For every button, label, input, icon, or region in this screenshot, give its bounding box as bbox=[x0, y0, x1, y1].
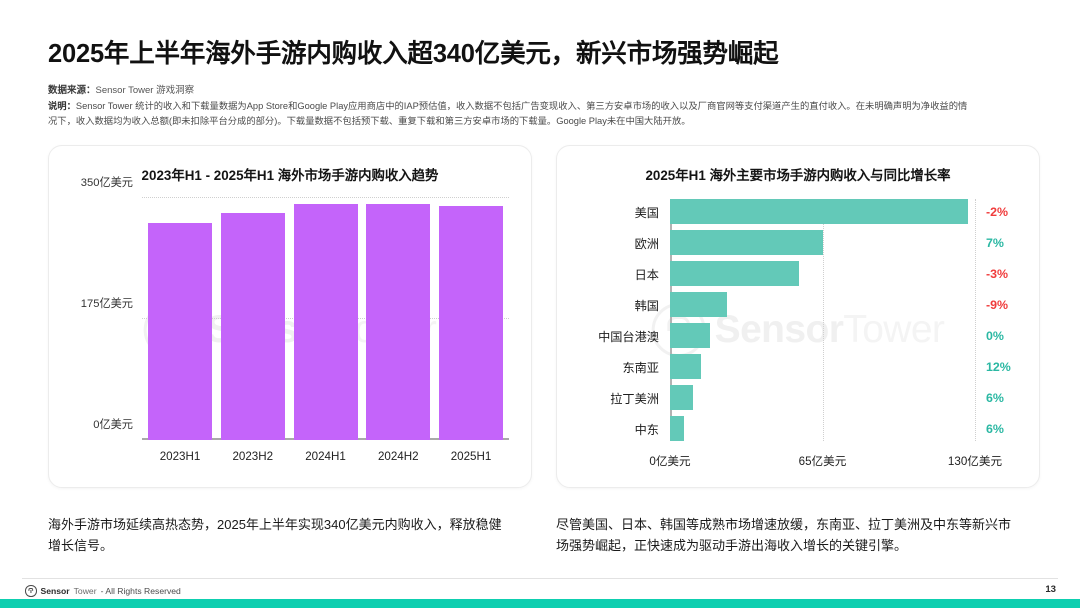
trend-bar[interactable] bbox=[294, 204, 358, 440]
trend-y-tick-label: 0亿美元 bbox=[93, 416, 133, 432]
trend-x-tick-label: 2024H2 bbox=[378, 450, 419, 463]
caption-right: 尽管美国、日本、韩国等成熟市场增速放缓，东南亚、拉丁美洲及中东等新兴市场强势崛起… bbox=[556, 514, 1021, 556]
note-label: 说明： bbox=[48, 101, 76, 111]
trend-bar-group[interactable]: 2023H1 bbox=[148, 198, 212, 440]
footer-rights: - All Rights Reserved bbox=[101, 586, 181, 596]
page-number: 13 bbox=[1045, 584, 1056, 595]
markets-bar[interactable] bbox=[670, 385, 693, 410]
markets-bar[interactable] bbox=[670, 323, 710, 348]
trend-x-tick-label: 2025H1 bbox=[451, 450, 492, 463]
trend-y-tick-label: 350亿美元 bbox=[81, 174, 133, 190]
trend-bars: 2023H12023H22024H12024H22025H1 bbox=[142, 198, 509, 440]
trend-bar[interactable] bbox=[366, 204, 430, 440]
trend-chart-card: 2023年H1 - 2025年H1 海外市场手游内购收入趋势 SensorTow… bbox=[48, 145, 532, 488]
footer-brand-light: Tower bbox=[74, 586, 97, 596]
markets-plot-area: 0亿美元65亿美元130亿美元美国-2%欧洲7%日本-3%韩国-9%中国台港澳0… bbox=[670, 199, 975, 441]
markets-category-label: 东南亚 bbox=[622, 358, 659, 376]
trend-y-tick-label: 175亿美元 bbox=[81, 295, 133, 311]
markets-category-label: 欧洲 bbox=[635, 234, 659, 252]
markets-growth-label: 6% bbox=[986, 422, 1004, 436]
sensor-tower-logo-icon bbox=[25, 585, 37, 597]
trend-x-tick-label: 2024H1 bbox=[305, 450, 346, 463]
markets-bar-row[interactable]: 韩国-9% bbox=[670, 292, 975, 317]
trend-bar[interactable] bbox=[439, 206, 503, 440]
markets-bar-row[interactable]: 中东6% bbox=[670, 416, 975, 441]
markets-gridline bbox=[975, 199, 976, 441]
markets-x-tick-label: 130亿美元 bbox=[948, 453, 1002, 469]
slide: 2025年上半年海外手游内购收入超340亿美元，新兴市场强势崛起 数据来源：Se… bbox=[0, 0, 1080, 608]
trend-x-tick-label: 2023H1 bbox=[160, 450, 201, 463]
markets-bar[interactable] bbox=[670, 199, 968, 224]
markets-category-label: 美国 bbox=[635, 203, 659, 221]
trend-bar[interactable] bbox=[221, 213, 285, 440]
markets-growth-label: 7% bbox=[986, 236, 1004, 250]
trend-bar-group[interactable]: 2024H1 bbox=[294, 198, 358, 440]
trend-bar-group[interactable]: 2024H2 bbox=[366, 198, 430, 440]
footer-brand-strong: Sensor bbox=[41, 586, 70, 596]
trend-bar[interactable] bbox=[148, 223, 212, 440]
markets-growth-label: -3% bbox=[986, 267, 1008, 281]
markets-bar[interactable] bbox=[670, 354, 701, 379]
markets-category-label: 中国台港澳 bbox=[598, 327, 659, 345]
markets-bar-row[interactable]: 拉丁美洲6% bbox=[670, 385, 975, 410]
footer-divider bbox=[22, 578, 1058, 579]
markets-bar-row[interactable]: 中国台港澳0% bbox=[670, 323, 975, 348]
markets-bar[interactable] bbox=[670, 416, 684, 441]
markets-bar-row[interactable]: 日本-3% bbox=[670, 261, 975, 286]
caption-left: 海外手游市场延续高热态势，2025年上半年实现340亿美元内购收入，释放稳健增长… bbox=[48, 514, 513, 556]
markets-rows: 美国-2%欧洲7%日本-3%韩国-9%中国台港澳0%东南亚12%拉丁美洲6%中东… bbox=[670, 199, 975, 441]
markets-bar[interactable] bbox=[670, 261, 799, 286]
markets-growth-label: 6% bbox=[986, 391, 1004, 405]
note-text: Sensor Tower 统计的收入和下载量数据为App Store和Googl… bbox=[48, 101, 967, 126]
markets-bar[interactable] bbox=[670, 292, 727, 317]
markets-growth-label: 12% bbox=[986, 360, 1011, 374]
markets-category-label: 日本 bbox=[635, 265, 659, 283]
markets-x-tick-label: 0亿美元 bbox=[649, 453, 690, 469]
markets-bar-row[interactable]: 美国-2% bbox=[670, 199, 975, 224]
markets-category-label: 中东 bbox=[635, 420, 659, 438]
markets-category-label: 拉丁美洲 bbox=[610, 389, 659, 407]
trend-bar-group[interactable]: 2023H2 bbox=[221, 198, 285, 440]
trend-chart: 0亿美元175亿美元350亿美元2023H12023H22024H12024H2… bbox=[49, 146, 531, 487]
page-title: 2025年上半年海外手游内购收入超340亿美元，新兴市场强势崛起 bbox=[48, 33, 778, 70]
footer-brand: SensorTower - All Rights Reserved bbox=[25, 585, 181, 597]
markets-chart-card: 2025年H1 海外主要市场手游内购收入与同比增长率 SensorTower 0… bbox=[556, 145, 1040, 488]
trend-bar-group[interactable]: 2025H1 bbox=[439, 198, 503, 440]
markets-growth-label: -2% bbox=[986, 205, 1008, 219]
markets-category-label: 韩国 bbox=[635, 296, 659, 314]
trend-plot-area: 0亿美元175亿美元350亿美元2023H12023H22024H12024H2… bbox=[142, 198, 509, 440]
markets-bar[interactable] bbox=[670, 230, 823, 255]
markets-bar-row[interactable]: 欧洲7% bbox=[670, 230, 975, 255]
bottom-accent-bar bbox=[0, 599, 1080, 608]
data-source-value: Sensor Tower 游戏洞察 bbox=[96, 85, 195, 96]
markets-growth-label: -9% bbox=[986, 298, 1008, 312]
data-source-line: 数据来源：Sensor Tower 游戏洞察 bbox=[48, 82, 194, 96]
data-source-label: 数据来源： bbox=[48, 85, 96, 96]
markets-growth-label: 0% bbox=[986, 329, 1004, 343]
markets-x-tick-label: 65亿美元 bbox=[799, 453, 847, 469]
trend-x-tick-label: 2023H2 bbox=[232, 450, 273, 463]
markets-bar-row[interactable]: 东南亚12% bbox=[670, 354, 975, 379]
markets-chart: 0亿美元65亿美元130亿美元美国-2%欧洲7%日本-3%韩国-9%中国台港澳0… bbox=[557, 146, 1039, 487]
note-block: 说明：Sensor Tower 统计的收入和下载量数据为App Store和Go… bbox=[48, 99, 968, 128]
